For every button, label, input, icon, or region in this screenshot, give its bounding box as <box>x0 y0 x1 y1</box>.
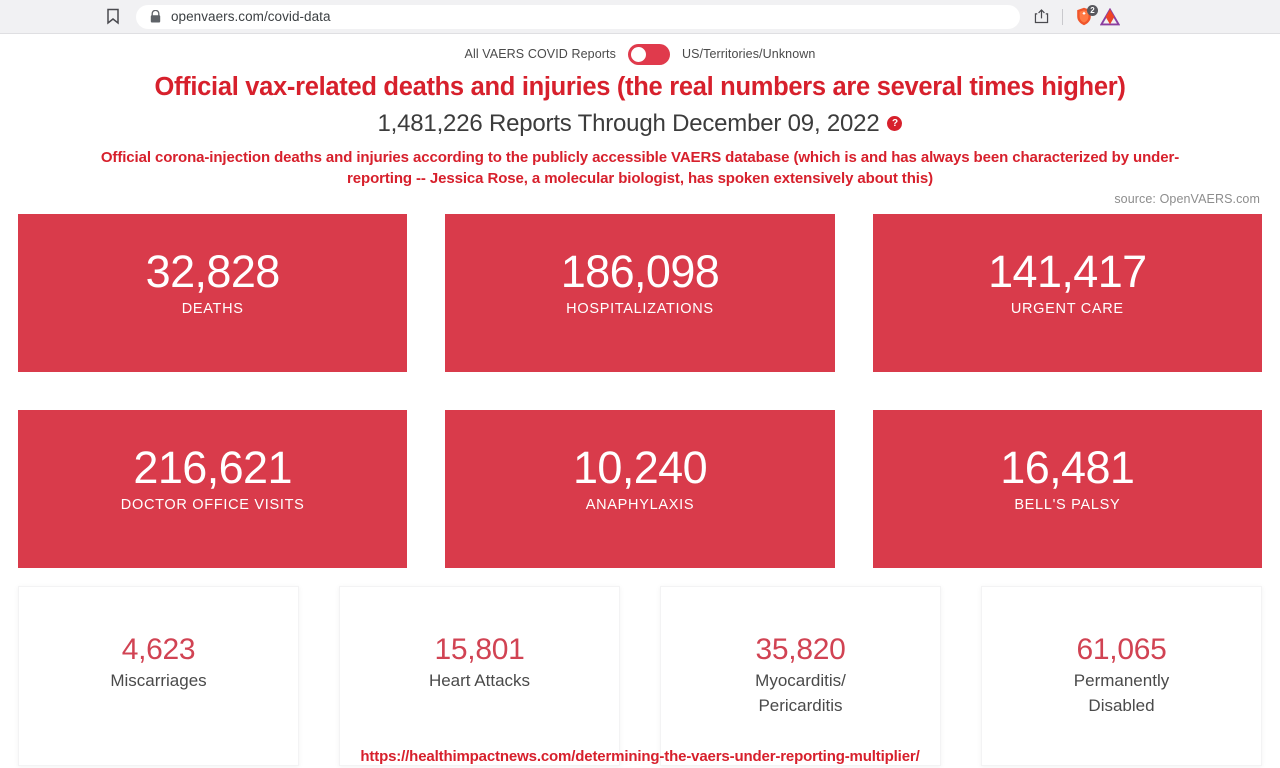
url-text: openvaers.com/covid-data <box>171 9 331 24</box>
stat-card-doctor-office-visits[interactable]: 216,621 DOCTOR OFFICE VISITS <box>18 410 407 568</box>
stat-card-miscarriages[interactable]: 4,623 Miscarriages <box>18 586 299 766</box>
report-scope-toggle[interactable] <box>628 44 670 65</box>
stat-value: 35,820 <box>661 634 940 666</box>
stat-label: PermanentlyDisabled <box>982 669 1261 718</box>
stat-value: 10,240 <box>445 444 834 491</box>
stat-card-urgent-care[interactable]: 141,417 URGENT CARE <box>873 214 1262 372</box>
page-content: All VAERS COVID Reports US/Territories/U… <box>0 34 1280 768</box>
stat-label: URGENT CARE <box>873 301 1262 317</box>
brave-rewards-triangle-icon[interactable] <box>1097 5 1123 29</box>
stat-label: HOSPITALIZATIONS <box>445 301 834 317</box>
reports-subtitle-text: 1,481,226 Reports Through December 09, 2… <box>378 110 880 138</box>
stat-value: 141,417 <box>873 248 1262 295</box>
stat-label: DOCTOR OFFICE VISITS <box>18 497 407 513</box>
stat-value: 216,621 <box>18 444 407 491</box>
stat-label: ANAPHYLAXIS <box>445 497 834 513</box>
toolbar-actions: 2 <box>1028 5 1123 29</box>
toggle-label-left: All VAERS COVID Reports <box>465 47 616 61</box>
toolbar-divider <box>1062 9 1063 25</box>
stat-label: BELL'S PALSY <box>873 497 1262 513</box>
reports-subtitle: 1,481,226 Reports Through December 09, 2… <box>18 110 1262 138</box>
page-title: Official vax-related deaths and injuries… <box>18 73 1262 102</box>
stat-value: 61,065 <box>982 634 1261 666</box>
toggle-knob <box>631 47 646 62</box>
stat-value: 32,828 <box>18 248 407 295</box>
stat-label: DEATHS <box>18 301 407 317</box>
stat-card-deaths[interactable]: 32,828 DEATHS <box>18 214 407 372</box>
source-label: source: OpenVAERS.com <box>18 192 1262 206</box>
bookmark-icon[interactable] <box>102 6 124 28</box>
white-stat-grid: 4,623 Miscarriages 15,801 Heart Attacks … <box>18 586 1262 766</box>
browser-toolbar: openvaers.com/covid-data 2 <box>0 0 1280 34</box>
lock-icon <box>148 10 162 24</box>
stat-label: Myocarditis/Pericarditis <box>661 669 940 718</box>
stat-label: Miscarriages <box>19 669 298 694</box>
help-icon[interactable]: ? <box>887 116 902 131</box>
report-scope-toggle-row: All VAERS COVID Reports US/Territories/U… <box>18 34 1262 64</box>
red-stat-grid: 32,828 DEATHS 186,098 HOSPITALIZATIONS 1… <box>18 214 1262 568</box>
overlay-source-link[interactable]: https://healthimpactnews.com/determining… <box>0 748 1280 765</box>
brave-shield-icon[interactable]: 2 <box>1071 5 1097 29</box>
stat-value: 4,623 <box>19 634 298 666</box>
stat-card-anaphylaxis[interactable]: 10,240 ANAPHYLAXIS <box>445 410 834 568</box>
stat-card-heart-attacks[interactable]: 15,801 Heart Attacks <box>339 586 620 766</box>
stat-card-myocarditis-pericarditis[interactable]: 35,820 Myocarditis/Pericarditis <box>660 586 941 766</box>
toggle-label-right: US/Territories/Unknown <box>682 47 816 61</box>
stat-card-bells-palsy[interactable]: 16,481 BELL'S PALSY <box>873 410 1262 568</box>
stat-card-hospitalizations[interactable]: 186,098 HOSPITALIZATIONS <box>445 214 834 372</box>
address-bar[interactable]: openvaers.com/covid-data <box>136 5 1020 29</box>
stat-label: Heart Attacks <box>340 669 619 694</box>
stat-value: 186,098 <box>445 248 834 295</box>
share-icon[interactable] <box>1028 5 1054 29</box>
stat-value: 15,801 <box>340 634 619 666</box>
disclaimer-text: Official corona-injection deaths and inj… <box>18 147 1262 191</box>
stat-card-permanently-disabled[interactable]: 61,065 PermanentlyDisabled <box>981 586 1262 766</box>
stat-value: 16,481 <box>873 444 1262 491</box>
